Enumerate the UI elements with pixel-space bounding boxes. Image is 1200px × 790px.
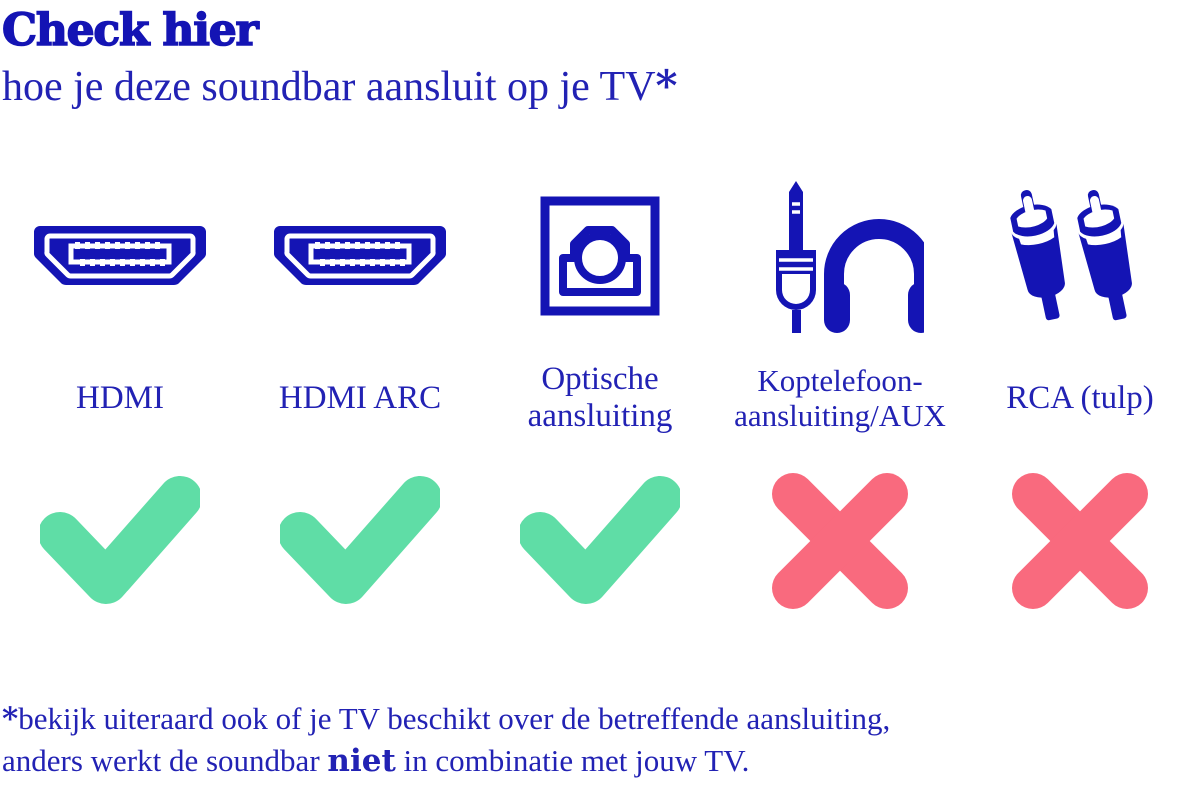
footnote-line-2: anders werkt de soundbar niet in combina… <box>2 740 1200 782</box>
mark-cell <box>0 453 240 628</box>
connection-column-aux: Koptelefoon- aansluiting/AUX <box>720 168 960 628</box>
label-cell: Koptelefoon- aansluiting/AUX <box>720 343 960 453</box>
mark-cell <box>720 453 960 628</box>
hdmi-connector-icon <box>30 206 210 306</box>
check-icon <box>280 476 440 606</box>
cross-icon <box>1005 466 1155 616</box>
icon-cell <box>480 168 720 343</box>
page-subtitle: hoe je deze soundbar aansluit op je TV* <box>0 56 1200 111</box>
footnote-marker: * <box>2 701 18 737</box>
connection-column-hdmi: HDMI <box>0 168 240 628</box>
rca-plugs-icon <box>1003 181 1158 331</box>
check-icon <box>40 476 200 606</box>
footnote-emphasis: niet <box>327 743 395 779</box>
header: Check hier hoe je deze soundbar aansluit… <box>0 0 1200 111</box>
footnote: *bekijk uiteraard ook of je TV beschikt … <box>0 698 1200 782</box>
footnote-line-1-text: bekijk uiteraard ook of je TV beschikt o… <box>18 701 890 736</box>
headphone-jack-icon <box>756 178 924 333</box>
connection-label: RCA (tulp) <box>1006 380 1154 417</box>
cross-icon <box>765 466 915 616</box>
label-cell: HDMI ARC <box>240 343 480 453</box>
connection-label: HDMI <box>76 380 164 417</box>
check-icon <box>520 476 680 606</box>
subtitle-footnote-marker: * <box>656 61 678 110</box>
connection-label: HDMI ARC <box>279 380 441 417</box>
icon-cell <box>960 168 1200 343</box>
connection-column-optical: Optische aansluiting <box>480 168 720 628</box>
mark-cell <box>240 453 480 628</box>
footnote-line-2-text-a: anders werkt de soundbar <box>2 743 327 778</box>
footnote-line-1: *bekijk uiteraard ook of je TV beschikt … <box>2 698 1200 740</box>
connection-column-hdmi-arc: HDMI ARC <box>240 168 480 628</box>
mark-cell <box>480 453 720 628</box>
connection-label: Optische aansluiting <box>528 361 673 435</box>
footnote-line-2-text-b: in combinatie met jouw TV. <box>396 743 750 778</box>
connection-grid: HDMI <box>0 168 1200 628</box>
mark-cell <box>960 453 1200 628</box>
icon-cell <box>0 168 240 343</box>
page-title: Check hier <box>0 0 1200 56</box>
connection-column-rca: RCA (tulp) <box>960 168 1200 628</box>
label-cell: Optische aansluiting <box>480 343 720 453</box>
label-cell: RCA (tulp) <box>960 343 1200 453</box>
icon-cell <box>720 168 960 343</box>
connection-label: Koptelefoon- aansluiting/AUX <box>734 363 946 433</box>
label-cell: HDMI <box>0 343 240 453</box>
page-subtitle-text: hoe je deze soundbar aansluit op je TV <box>2 64 656 110</box>
icon-cell <box>240 168 480 343</box>
hdmi-connector-icon <box>270 206 450 306</box>
optical-toslink-icon <box>538 194 662 318</box>
